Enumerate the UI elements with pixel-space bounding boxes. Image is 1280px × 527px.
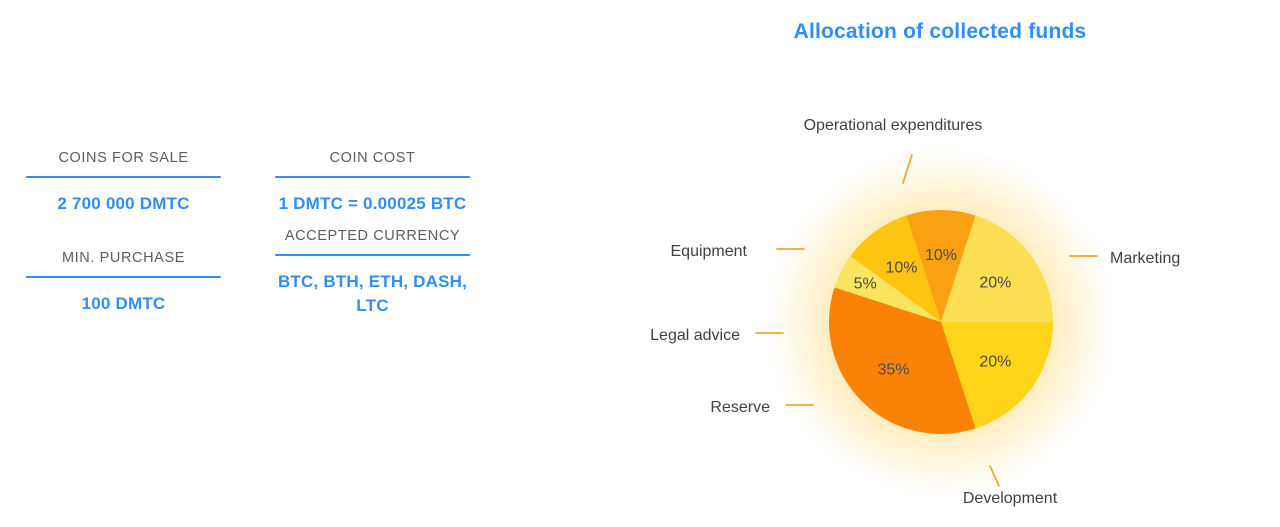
stat-min-purchase: MIN. PURCHASE 100 DMTC	[26, 250, 221, 316]
pie-percent-marketing: 20%	[979, 354, 1011, 371]
pie-category-label-marketing: Marketing	[1110, 250, 1180, 267]
pie-percent-legal-advice: 10%	[885, 260, 917, 277]
pie-percent-reserve: 5%	[854, 275, 877, 292]
stat-value-min-purchase: 100 DMTC	[26, 278, 221, 316]
stat-label-accepted-currency: ACCEPTED CURRENCY	[275, 228, 470, 254]
stat-label-coins-for-sale: COINS FOR SALE	[26, 150, 221, 176]
stat-value-accepted-currency: BTC, BTH, ETH, DASH, LTC	[275, 256, 470, 318]
pie-percent-equipment: 10%	[925, 247, 957, 264]
token-sale-stats: COINS FOR SALE 2 700 000 DMTC MIN. PURCH…	[0, 150, 520, 410]
stat-coin-cost: COIN COST 1 DMTC = 0.00025 BTC	[275, 150, 470, 216]
pie-category-label-equipment: Equipment	[671, 243, 748, 260]
pie-chart-svg: 20%35%5%10%10%20% MarketingDevelopmentRe…	[600, 0, 1280, 527]
pie-percent-development: 35%	[877, 362, 909, 379]
stat-label-coin-cost: COIN COST	[275, 150, 470, 176]
stat-accepted-currency: ACCEPTED CURRENCY BTC, BTH, ETH, DASH, L…	[275, 228, 470, 318]
allocation-chart-panel: Allocation of collected funds 20%35%5%10…	[600, 0, 1280, 527]
stats-column-right: COIN COST 1 DMTC = 0.00025 BTC ACCEPTED …	[275, 150, 470, 339]
stat-label-min-purchase: MIN. PURCHASE	[26, 250, 221, 276]
pie-category-label-legal-advice: Legal advice	[650, 327, 740, 344]
pie-percent-operational-expenditures: 20%	[979, 275, 1011, 292]
pie-category-label-development: Development	[963, 490, 1058, 507]
stats-column-left: COINS FOR SALE 2 700 000 DMTC MIN. PURCH…	[26, 150, 221, 338]
pie-category-label-reserve: Reserve	[710, 399, 770, 416]
pie-category-label-operational-expenditures: Operational expenditures	[804, 117, 983, 134]
stat-value-coins-for-sale: 2 700 000 DMTC	[26, 178, 221, 216]
stat-value-coin-cost: 1 DMTC = 0.00025 BTC	[275, 178, 470, 216]
stat-coins-for-sale: COINS FOR SALE 2 700 000 DMTC	[26, 150, 221, 216]
pie-chart: 20%35%5%10%10%20% MarketingDevelopmentRe…	[600, 0, 1280, 527]
pie-slice-group	[829, 210, 1053, 434]
